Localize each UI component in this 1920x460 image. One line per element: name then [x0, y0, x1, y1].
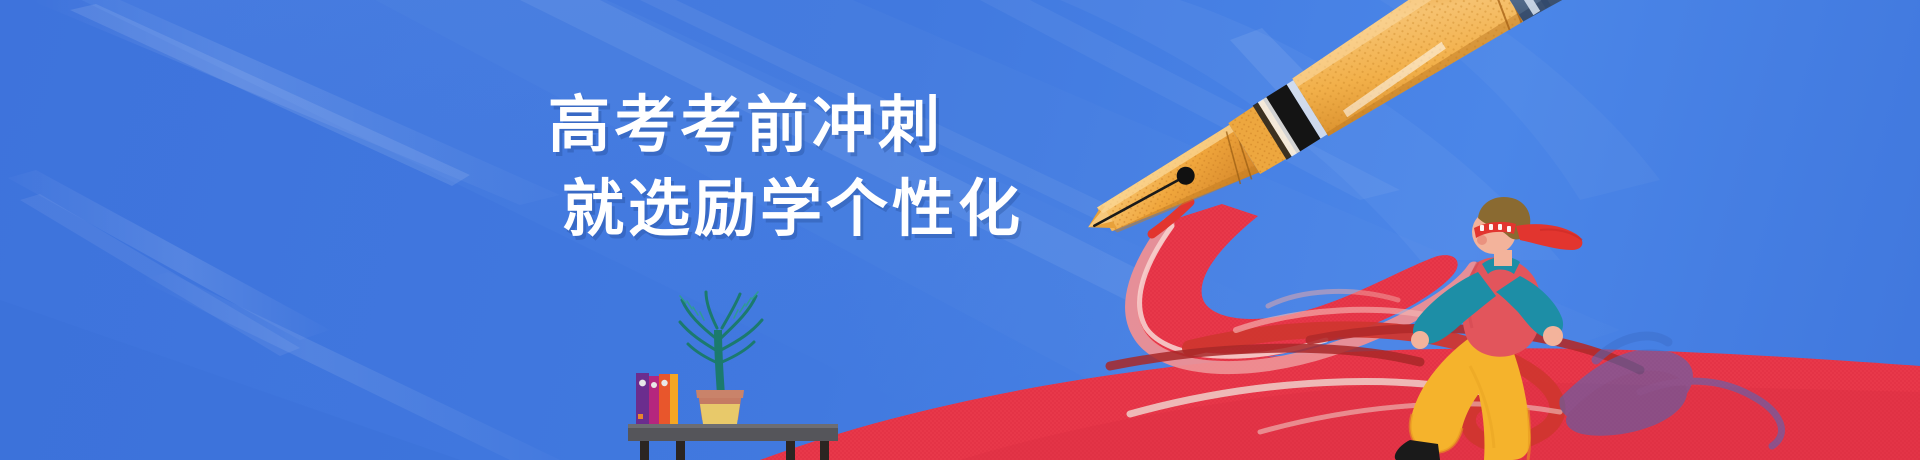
fountain-pen-illustration — [0, 0, 1920, 460]
fountain-pen — [1066, 0, 1716, 285]
promo-banner: 高考考前冲刺 就选励学个性化 — [0, 0, 1920, 460]
